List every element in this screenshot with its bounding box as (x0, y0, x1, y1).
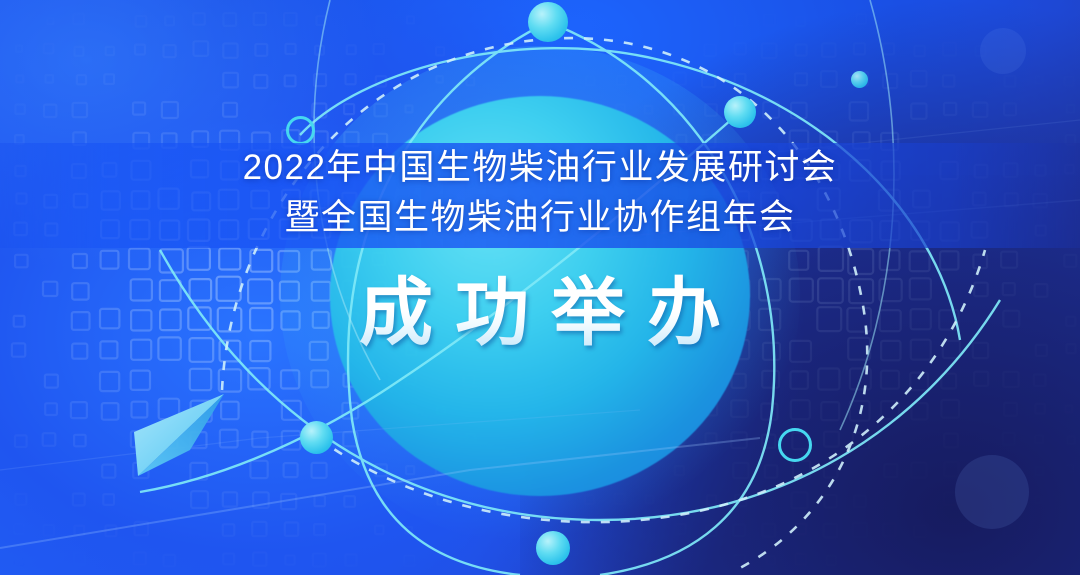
headline-block: 成功举办 (0, 272, 1080, 356)
orbit-node-left (300, 421, 333, 454)
paper-plane-icon (128, 388, 228, 478)
soft-circle-bottom-right (955, 455, 1029, 529)
event-banner: 2022年中国生物柴油行业发展研讨会 暨全国生物柴油行业协作组年会 成功举办 (0, 0, 1080, 575)
title-block: 2022年中国生物柴油行业发展研讨会 暨全国生物柴油行业协作组年会 (0, 143, 1080, 243)
orbit-node-top (528, 2, 568, 42)
orbit-node-right (724, 96, 756, 128)
ring-outline-top-left (286, 116, 315, 145)
small-node-upper-right (851, 71, 868, 88)
ring-outline-bottom-right (778, 428, 812, 462)
headline-text: 成功举办 (337, 272, 743, 356)
orbit-node-bottom (536, 531, 570, 565)
title-line-2: 暨全国生物柴油行业协作组年会 (0, 193, 1080, 243)
title-line-1: 2022年中国生物柴油行业发展研讨会 (0, 143, 1080, 193)
soft-circle-upper-right (980, 28, 1026, 74)
